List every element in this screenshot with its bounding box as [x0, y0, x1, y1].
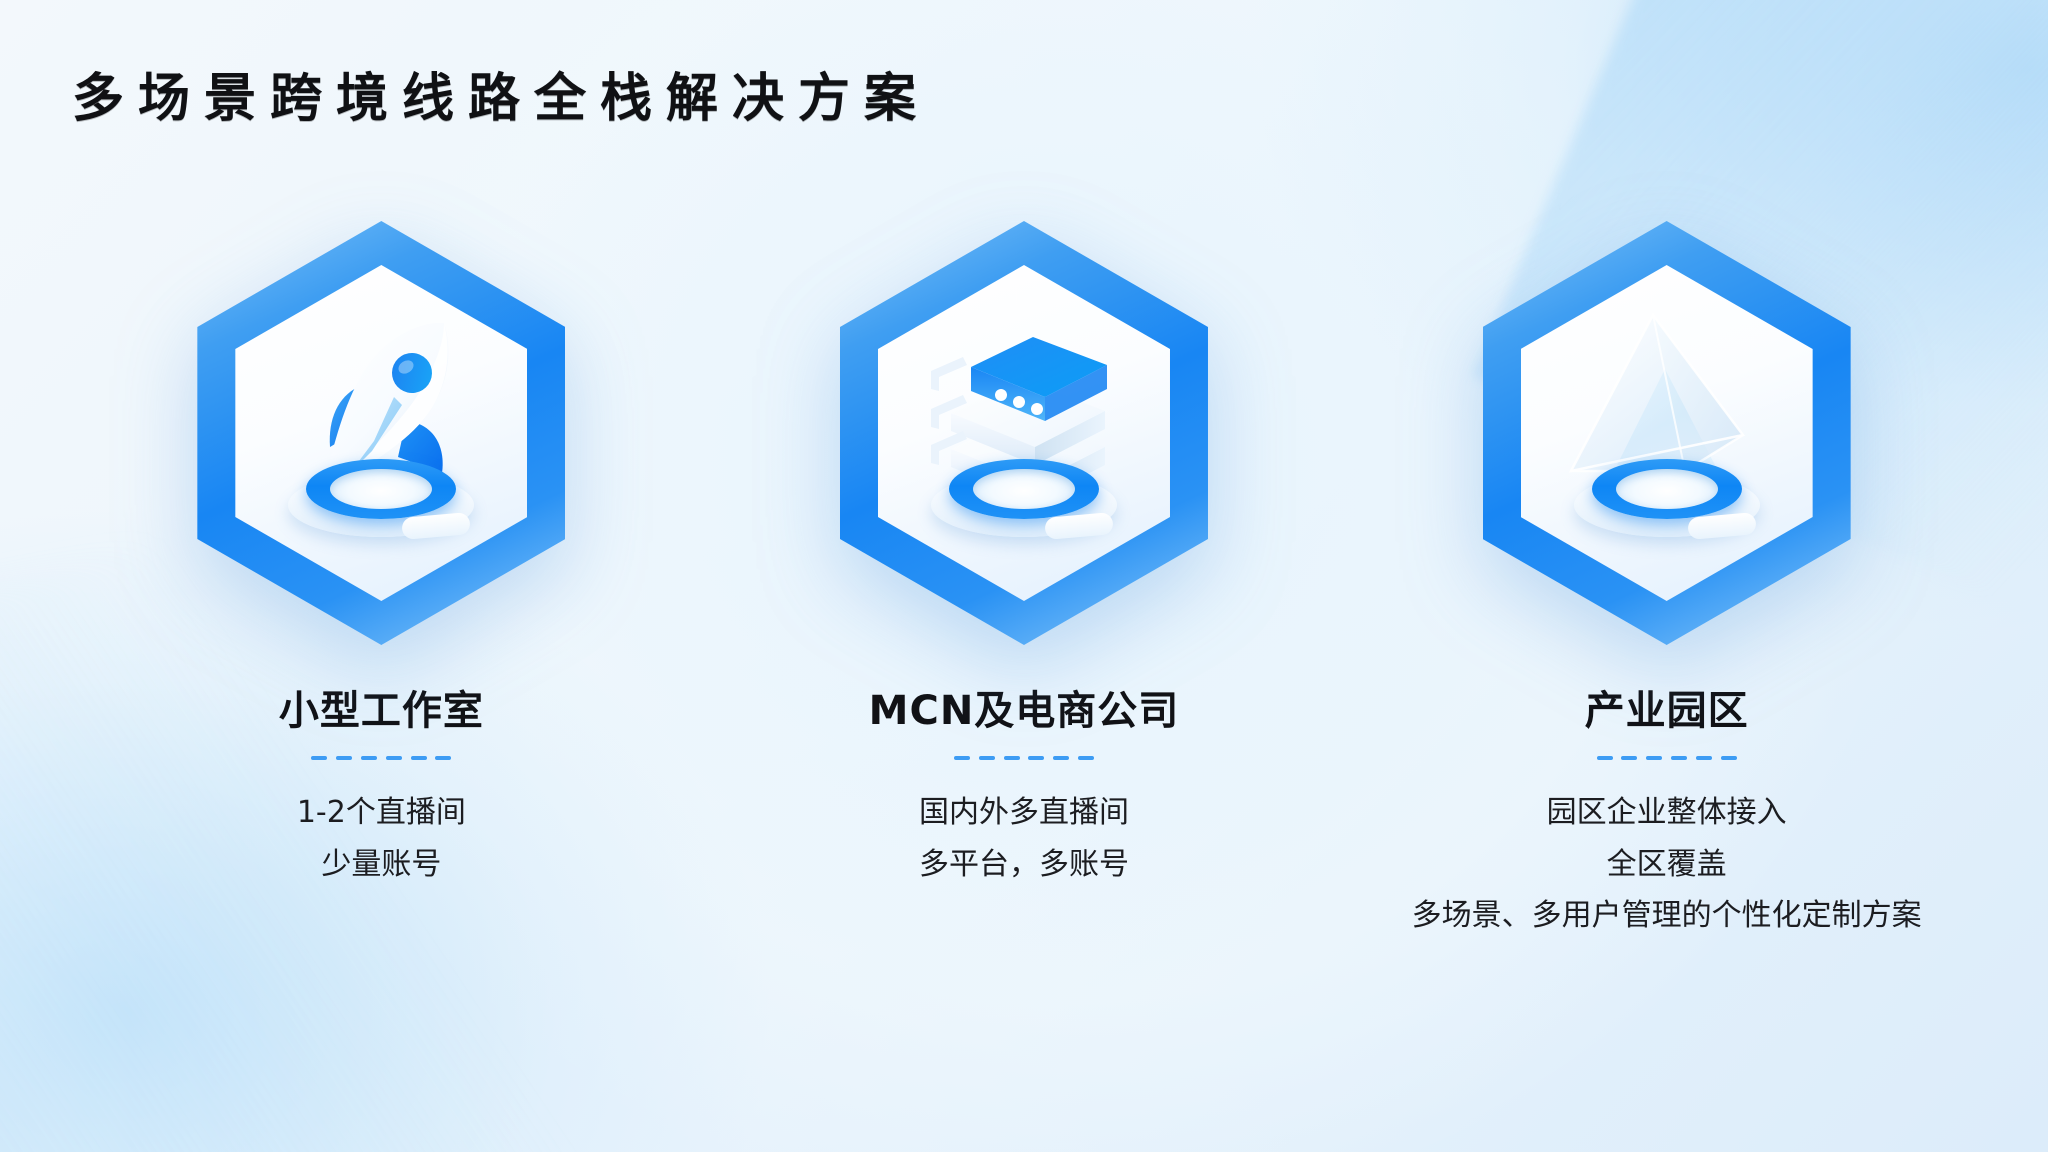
card-description-line: 多场景、多用户管理的个性化定制方案 [1412, 892, 1922, 941]
solution-card[interactable]: 小型工作室 1-2个直播间 少量账号 [101, 210, 661, 892]
hexagon-icon-frame [824, 210, 1224, 656]
server-stack-icon [874, 283, 1174, 583]
rocket-icon [231, 283, 531, 583]
hexagon-icon-frame [181, 210, 581, 656]
card-description-line: 1-2个直播间 [297, 789, 466, 838]
solution-card-row: 小型工作室 1-2个直播间 少量账号 [0, 210, 2048, 944]
page-title: 多场景跨境线路全栈解决方案 [72, 56, 930, 131]
card-description-line: 园区企业整体接入 [1412, 789, 1922, 838]
icon-pedestal [286, 457, 476, 541]
card-title: MCN及电商公司 [869, 678, 1180, 736]
hexagon-icon-frame [1467, 210, 1867, 656]
card-divider [311, 756, 451, 760]
slide-canvas: 多场景跨境线路全栈解决方案 [0, 0, 2048, 1152]
card-title: 小型工作室 [279, 678, 484, 736]
card-description-line: 少量账号 [297, 841, 466, 890]
card-divider [954, 756, 1094, 760]
card-description: 1-2个直播间 少量账号 [297, 786, 466, 892]
solution-card[interactable]: MCN及电商公司 国内外多直播间 多平台，多账号 [744, 210, 1304, 892]
card-description: 国内外多直播间 多平台，多账号 [919, 786, 1129, 892]
card-description: 园区企业整体接入 全区覆盖 多场景、多用户管理的个性化定制方案 [1412, 786, 1922, 944]
icon-pedestal [1572, 457, 1762, 541]
card-description-line: 全区覆盖 [1412, 841, 1922, 890]
card-description-line: 国内外多直播间 [919, 789, 1129, 838]
icon-pedestal [929, 457, 1119, 541]
card-divider [1597, 756, 1737, 760]
card-description-line: 多平台，多账号 [919, 841, 1129, 890]
pyramid-icon [1517, 283, 1817, 583]
card-title: 产业园区 [1585, 678, 1749, 736]
solution-card[interactable]: 产业园区 园区企业整体接入 全区覆盖 多场景、多用户管理的个性化定制方案 [1387, 210, 1947, 944]
